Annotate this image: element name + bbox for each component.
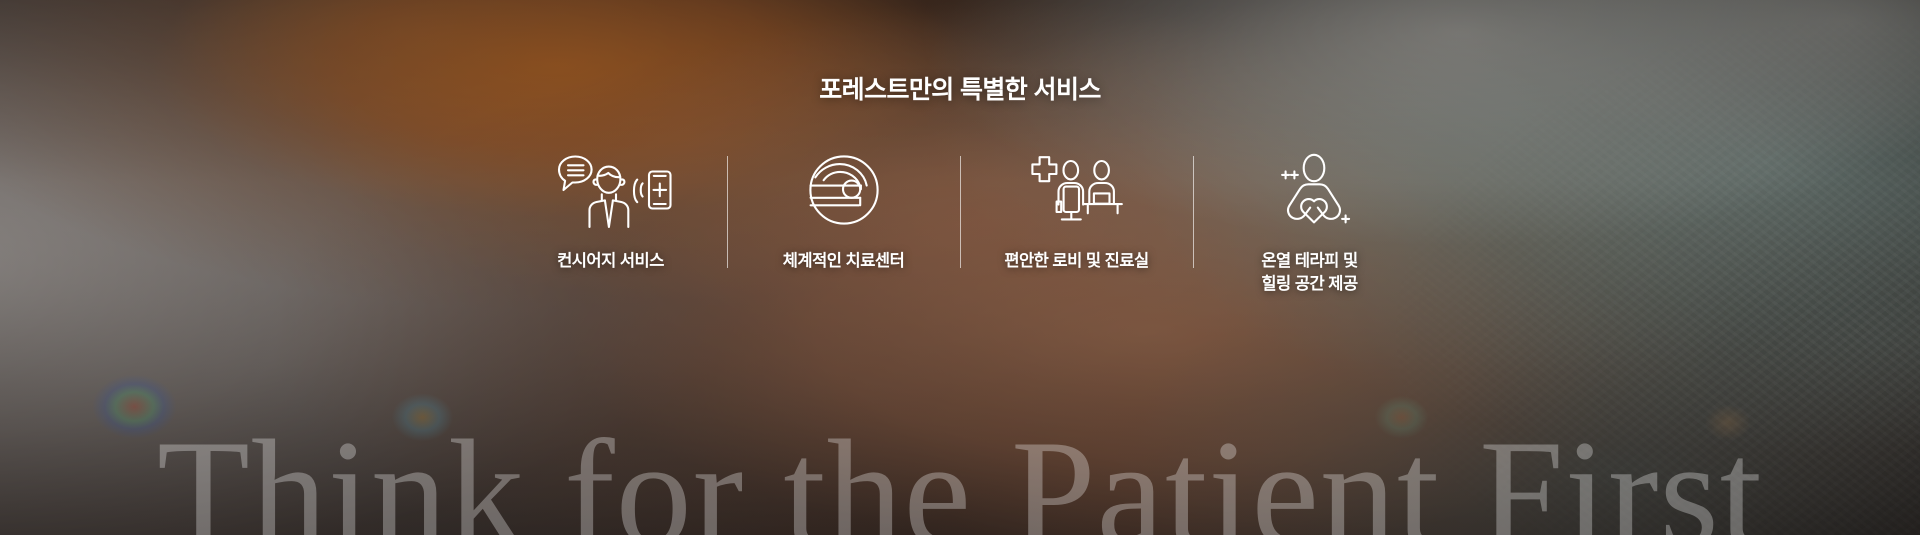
reception-desk-staff-icon (1031, 152, 1123, 228)
service-hero-banner: Think for the Patient First 포레스트만의 특별한 서… (0, 0, 1920, 535)
person-holding-heart-icon (1267, 152, 1353, 228)
service-item-treatment-center[interactable]: 체계적인 치료센터 (728, 152, 960, 273)
service-label: 체계적인 치료센터 (783, 250, 905, 273)
page-title: 포레스트만의 특별한 서비스 (819, 70, 1101, 106)
service-label: 편안한 로비 및 진료실 (1004, 250, 1148, 273)
service-item-concierge[interactable]: 컨시어지 서비스 (495, 152, 727, 273)
service-label: 온열 테라피 및 힐링 공간 제공 (1261, 250, 1357, 297)
hero-content: 포레스트만의 특별한 서비스 (0, 0, 1920, 535)
ct-scanner-icon (805, 152, 883, 228)
consultation-person-phone-icon (550, 152, 672, 228)
service-item-lobby[interactable]: 편안한 로비 및 진료실 (961, 152, 1193, 273)
service-list: 컨시어지 서비스 (495, 152, 1426, 297)
service-item-thermal-therapy[interactable]: 온열 테라피 및 힐링 공간 제공 (1194, 152, 1426, 297)
service-label: 컨시어지 서비스 (557, 250, 664, 273)
